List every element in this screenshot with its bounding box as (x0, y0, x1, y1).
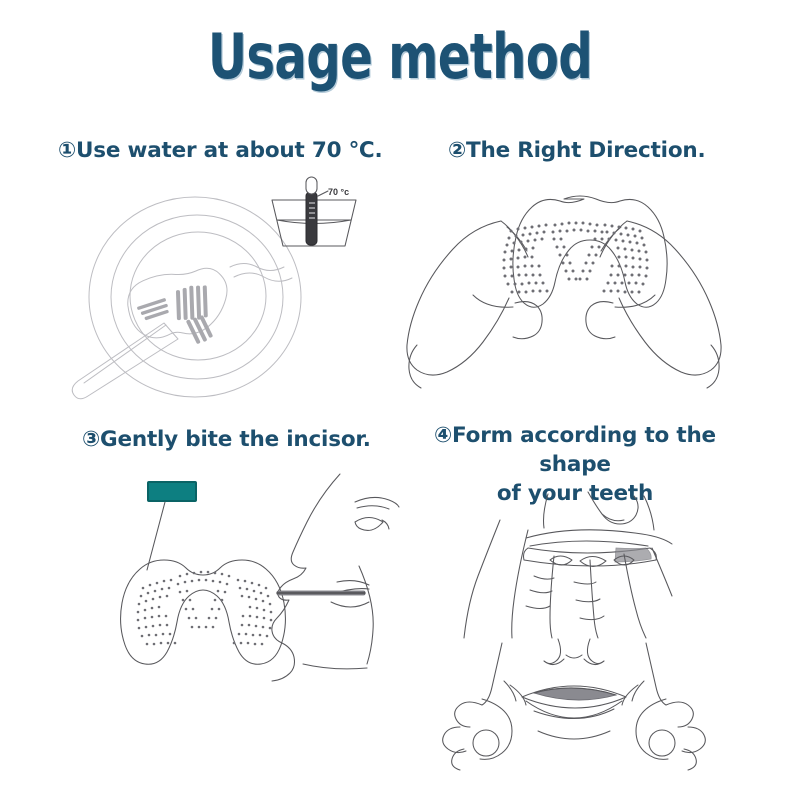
fingers-pressing-icon (464, 520, 672, 638)
step-1-heading: ①Use water at about 70 ℃. (58, 136, 388, 165)
step-3-heading: ③Gently bite the incisor. (82, 425, 402, 454)
left-hand-icon (407, 221, 542, 388)
usage-method-instruction-sheet: Usage method ①Use water at about 70 ℃. ②… (0, 0, 800, 800)
right-cheek-line (622, 685, 638, 705)
tray-edge-in-mouth (277, 591, 365, 595)
nose-icon (544, 639, 604, 665)
bowl-icon (89, 197, 301, 397)
tray-stipple-pattern (136, 281, 224, 359)
step-2-heading: ②The Right Direction. (448, 136, 768, 165)
mouthguard-tray-icon (503, 196, 668, 307)
thermometer-in-cup-inset: 70 °c (272, 177, 356, 246)
face-profile-icon (272, 474, 399, 681)
incisor-callout-box (148, 482, 196, 501)
page-title: Usage method (88, 22, 712, 92)
right-hand-icon (632, 643, 705, 770)
left-cheek-line (510, 685, 526, 705)
step-4-illustration-bottom (430, 625, 720, 770)
step-4-illustration-top (430, 490, 720, 640)
tray-handle-icon (72, 323, 178, 399)
step-1-illustration: 70 °c (60, 175, 390, 405)
step-3-illustration (55, 470, 395, 680)
left-hand-icon (443, 643, 516, 770)
mouthguard-tray-icon (121, 560, 286, 664)
tray-stipple-pattern (137, 571, 273, 646)
tray-stipple-pattern (503, 222, 649, 294)
temperature-label: 70 °c (328, 187, 349, 197)
mouthguard-tray-in-water (121, 256, 241, 361)
nose-and-upper-lip-icon (526, 492, 672, 546)
step-2-illustration (405, 175, 735, 415)
open-mouth-icon (522, 686, 626, 739)
